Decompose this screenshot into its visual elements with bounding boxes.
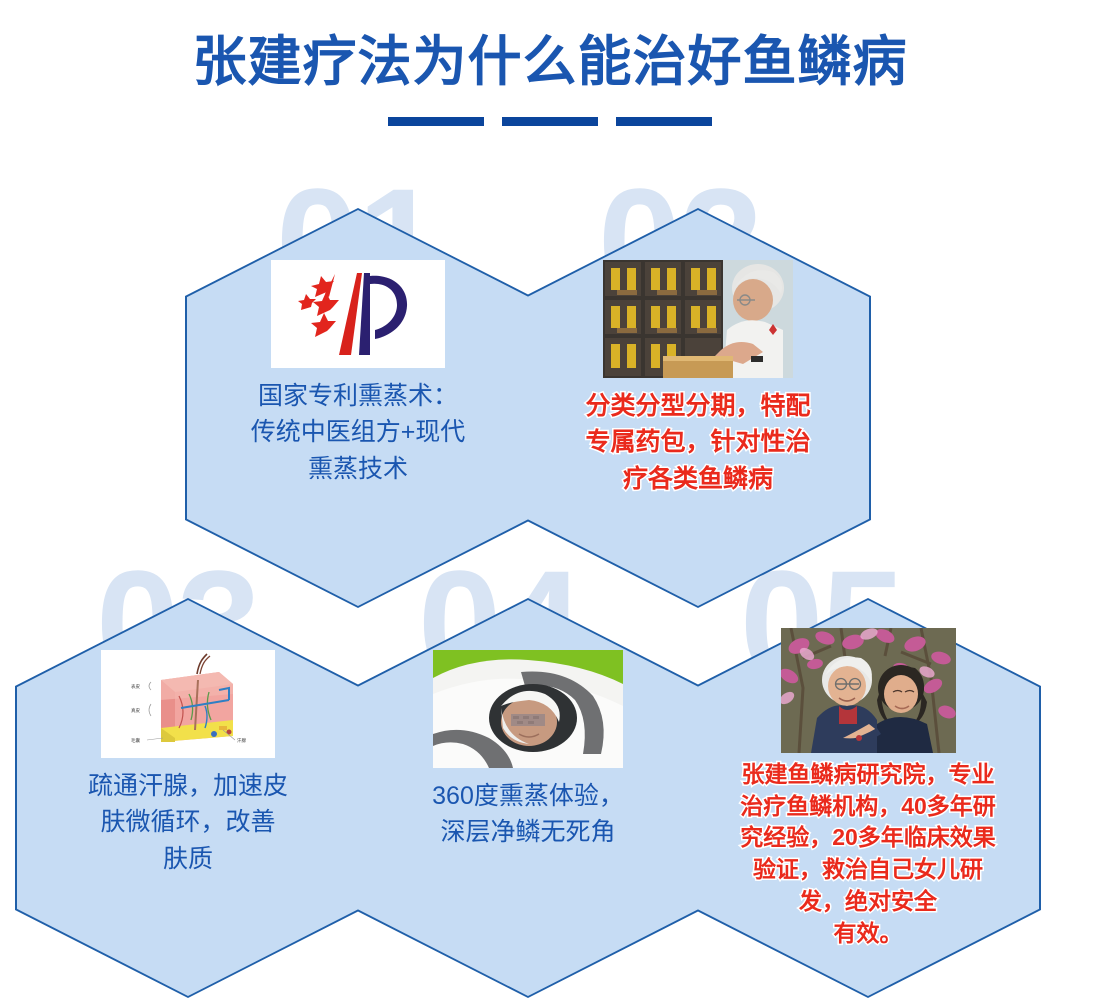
caption-line: 肤微循环，改善: [38, 804, 338, 840]
caption-line: 国家专利熏蒸术：: [208, 378, 508, 414]
herb-pharmacist-photo: [603, 260, 793, 378]
caption-line: 深层净鳞无死角: [378, 814, 678, 850]
caption-line: 熏蒸技术: [208, 451, 508, 487]
hexagon-card-04[interactable]: 360度熏蒸体验， 深层净鳞无死角: [355, 598, 701, 998]
caption-line: 360度熏蒸体验，: [378, 778, 678, 814]
caption-line: 疗各类鱼鳞病: [548, 461, 848, 497]
hexagon-caption-05: 张建鱼鳞病研究院，专业 治疗鱼鳞机构，40多年研 究经验，20多年临床效果 验证…: [723, 759, 1013, 949]
patent-logo-icon: [271, 260, 445, 368]
skin-cross-section-diagram: 表皮 真皮 毛囊 汗腺: [101, 650, 275, 758]
caption-line: 分类分型分期，特配: [548, 388, 848, 424]
hexagon-caption-02: 分类分型分期，特配 专属药包，针对性治 疗各类鱼鳞病: [548, 388, 848, 497]
caption-line: 肤质: [38, 841, 338, 877]
svg-text:毛囊: 毛囊: [131, 737, 140, 744]
fumigation-capsule-photo: [433, 650, 623, 768]
caption-line: 传统中医组方+现代: [208, 414, 508, 450]
hexagon-caption-03: 疏通汗腺，加速皮 肤微循环，改善 肤质: [38, 768, 338, 877]
hexagon-caption-01: 国家专利熏蒸术： 传统中医组方+现代 熏蒸技术: [208, 378, 508, 487]
hexagon-caption-04: 360度熏蒸体验， 深层净鳞无死角: [378, 778, 678, 851]
caption-line: 治疗鱼鳞机构，40多年研: [723, 791, 1013, 823]
hexagon-card-01[interactable]: 国家专利熏蒸术： 传统中医组方+现代 熏蒸技术: [185, 208, 531, 608]
caption-line: 发，绝对安全: [723, 886, 1013, 918]
founder-and-daughter-photo: [781, 628, 956, 753]
founder-and-daughter-image: [781, 628, 956, 753]
caption-line: 有效。: [723, 918, 1013, 950]
hexagon-card-03[interactable]: 表皮 真皮 毛囊 汗腺 疏通汗腺，加速皮 肤微循环，改善 肤质: [15, 598, 361, 998]
caption-line: 验证，救治自己女儿研: [723, 854, 1013, 886]
hexagon-grid: 国家专利熏蒸术： 传统中医组方+现代 熏蒸技术: [0, 0, 1100, 1003]
fumigation-capsule-image: [433, 650, 623, 768]
svg-text:表皮: 表皮: [131, 683, 140, 690]
caption-line: 张建鱼鳞病研究院，专业: [723, 759, 1013, 791]
hexagon-card-02[interactable]: 分类分型分期，特配 专属药包，针对性治 疗各类鱼鳞病: [525, 208, 871, 608]
hexagon-card-05[interactable]: 张建鱼鳞病研究院，专业 治疗鱼鳞机构，40多年研 究经验，20多年临床效果 验证…: [695, 598, 1041, 998]
caption-line: 究经验，20多年临床效果: [723, 822, 1013, 854]
caption-line: 疏通汗腺，加速皮: [38, 768, 338, 804]
skin-diagram-icon: 表皮 真皮 毛囊 汗腺: [101, 650, 275, 758]
svg-text:汗腺: 汗腺: [237, 737, 246, 744]
svg-text:真皮: 真皮: [131, 707, 140, 714]
national-patent-logo: [271, 260, 445, 368]
caption-line: 专属药包，针对性治: [548, 424, 848, 460]
herb-pharmacist-image: [603, 260, 793, 378]
